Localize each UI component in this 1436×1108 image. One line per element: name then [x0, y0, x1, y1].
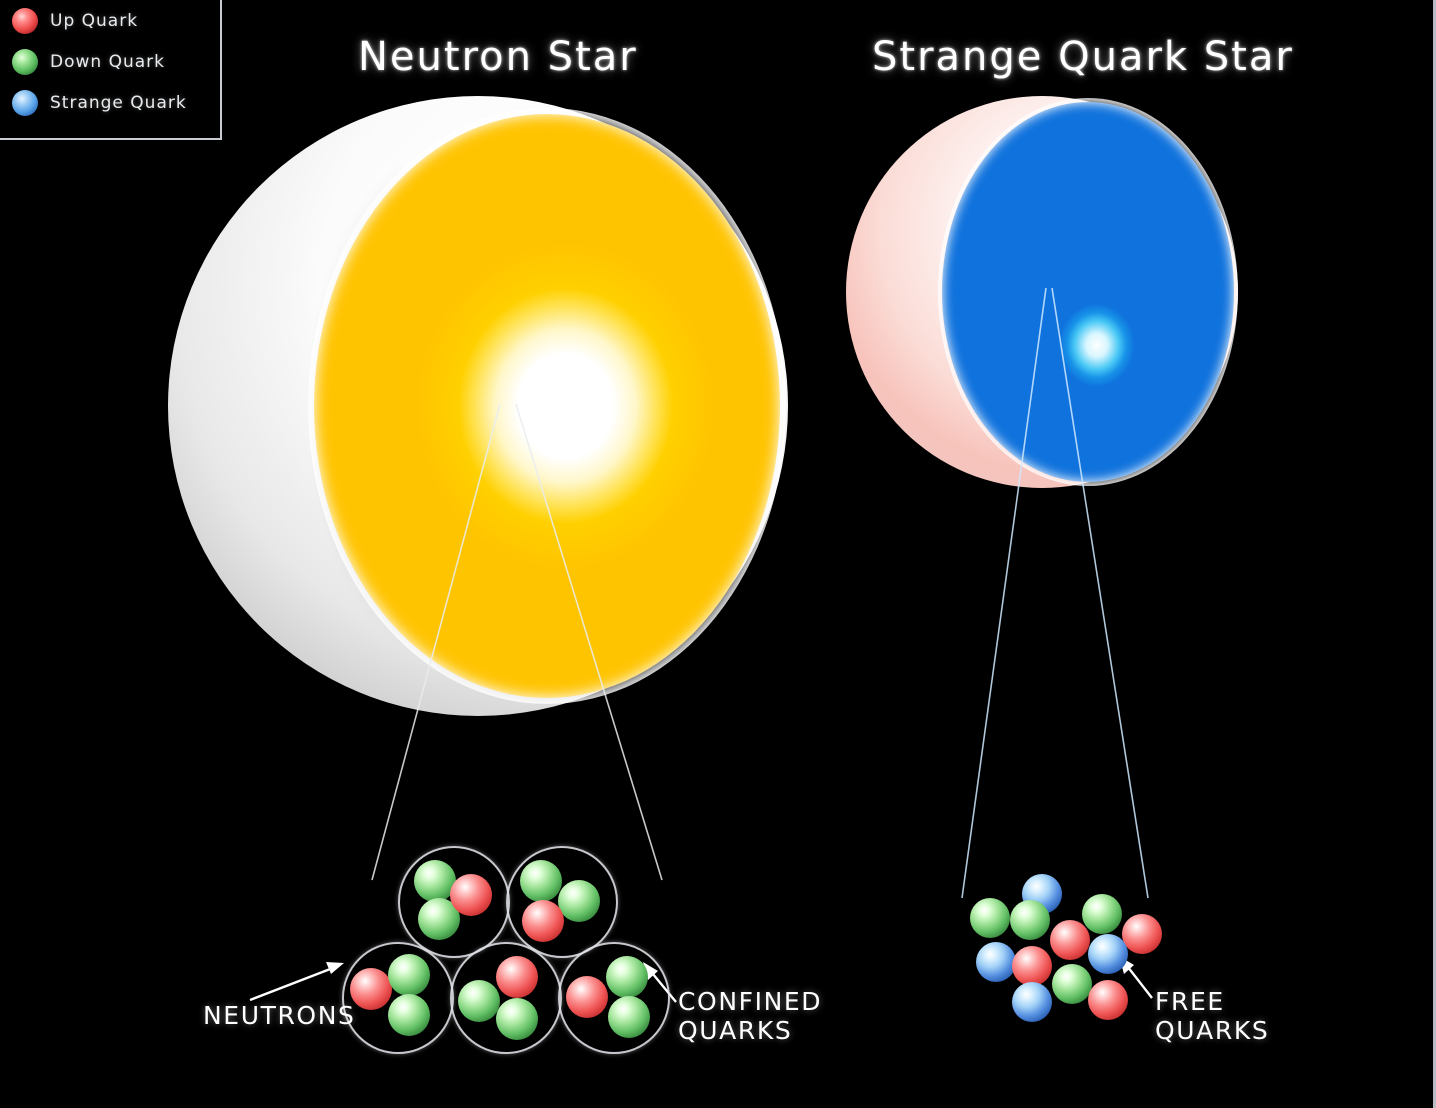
down-quark [520, 860, 562, 902]
down-quark [1052, 964, 1092, 1004]
up-quark [566, 976, 608, 1018]
up-quark-sphere-icon [12, 8, 38, 34]
strange-quark-sphere-icon [12, 90, 38, 116]
up-quark [450, 874, 492, 916]
legend-item-up-quark: Up Quark [0, 0, 220, 41]
down-quark [1010, 900, 1050, 940]
strange-quark [1012, 982, 1052, 1022]
strange-quark [1088, 934, 1128, 974]
down-quark [388, 954, 430, 996]
legend-label-up-quark: Up Quark [50, 11, 138, 31]
qs-leader-line-left [962, 288, 1046, 898]
ns-leader-line-left [372, 404, 500, 880]
up-quark [1012, 946, 1052, 986]
up-quark [496, 956, 538, 998]
neutrons-label: NEUTRONS [203, 1002, 356, 1031]
down-quark [388, 994, 430, 1036]
down-quark-sphere-icon [12, 49, 38, 75]
legend-label-strange-quark: Strange Quark [50, 93, 187, 113]
free-quarks-label: FREE QUARKS [1155, 988, 1269, 1045]
up-quark [1122, 914, 1162, 954]
up-quark [350, 968, 392, 1010]
up-quark [1088, 980, 1128, 1020]
legend-item-down-quark: Down Quark [0, 41, 220, 82]
neutron-cluster-inset [330, 846, 680, 1056]
figure-canvas: Up Quark Down Quark Strange Quark Neutro… [0, 0, 1436, 1108]
down-quark [608, 996, 650, 1038]
strange-quark [976, 942, 1016, 982]
ns-leader-line-right [516, 404, 662, 880]
legend: Up Quark Down Quark Strange Quark [0, 0, 222, 140]
qs-leader-line-right [1052, 288, 1148, 898]
legend-item-strange-quark: Strange Quark [0, 82, 220, 123]
confined-quarks-label: CONFINED QUARKS [678, 988, 822, 1045]
down-quark [458, 980, 500, 1022]
leader-lines-overlay [0, 0, 1436, 1108]
legend-label-down-quark: Down Quark [50, 52, 165, 72]
up-quark [522, 900, 564, 942]
up-quark [1050, 920, 1090, 960]
down-quark [606, 956, 648, 998]
down-quark [970, 898, 1010, 938]
down-quark [1082, 894, 1122, 934]
down-quark [558, 880, 600, 922]
down-quark [496, 998, 538, 1040]
free-quark-cluster-inset [968, 872, 1158, 1022]
